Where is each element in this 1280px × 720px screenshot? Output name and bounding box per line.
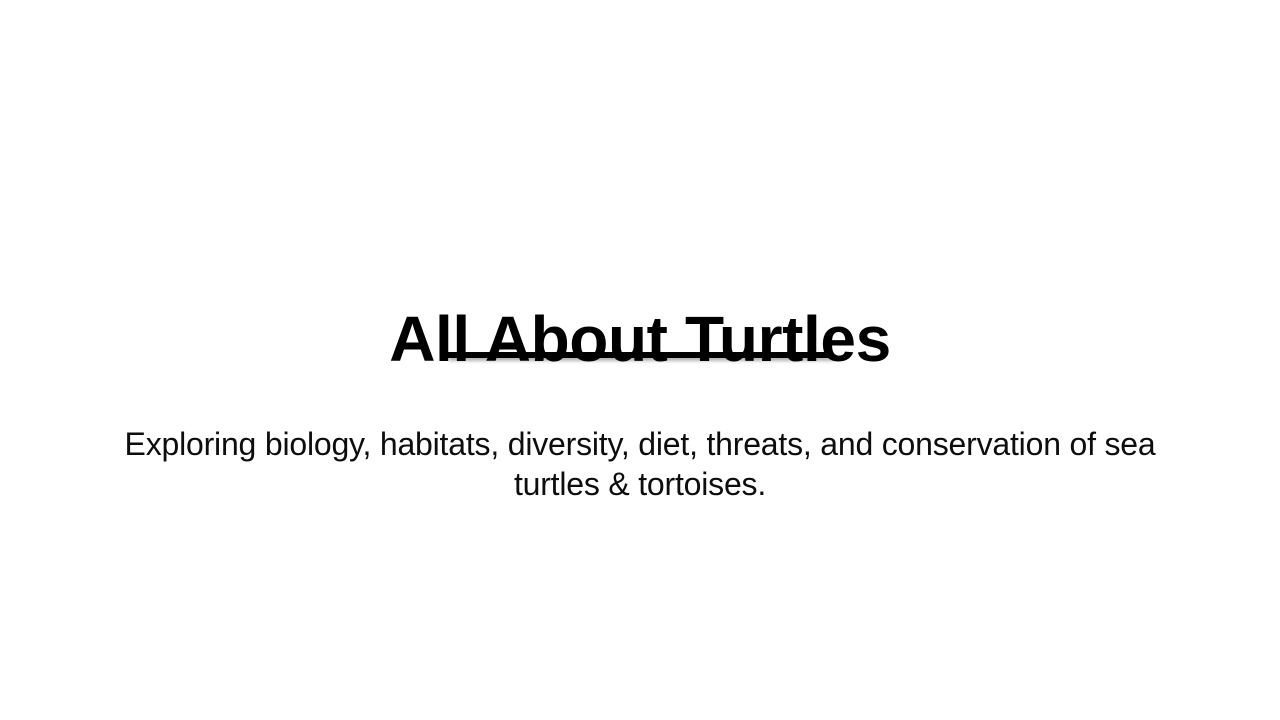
page-title: All About Turtles — [0, 301, 1280, 377]
title-divider — [447, 352, 832, 358]
slide-subtitle: Exploring biology, habitats, diversity, … — [100, 424, 1180, 504]
slide-content-block: All About Turtles Exploring biology, hab… — [0, 0, 1280, 720]
title-slide: All About Turtles Exploring biology, hab… — [0, 0, 1280, 720]
